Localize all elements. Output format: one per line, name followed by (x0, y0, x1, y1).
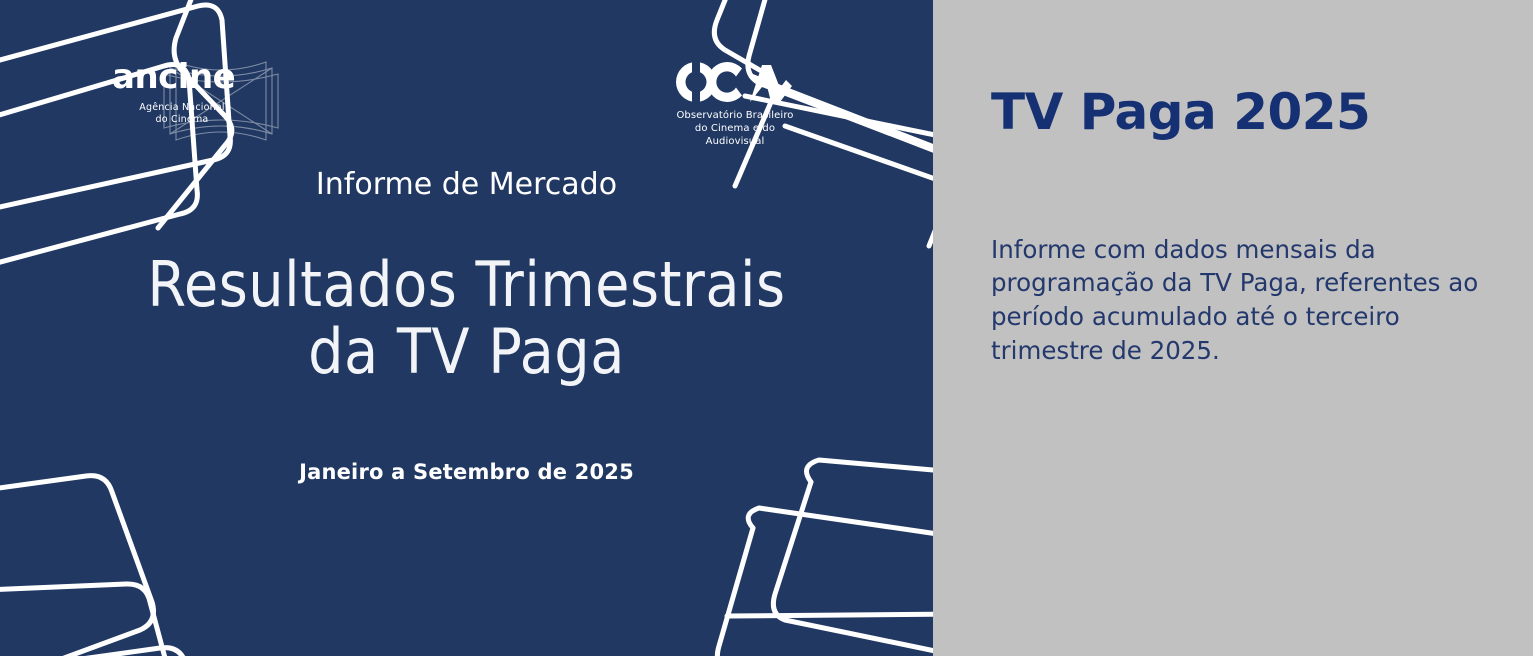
ancine-tagline-line1: Agência Nacional (116, 102, 248, 114)
kicker-label: Informe de Mercado (316, 170, 617, 200)
ancine-tagline-line2: do Cinema (116, 114, 248, 126)
right-panel-title: TV Paga 2025 (991, 86, 1493, 139)
page-title: Resultados Trimestrais da TV Paga (147, 252, 785, 386)
right-panel-description: Informe com dados mensais da programação… (991, 233, 1491, 368)
cover-page: ancine Agência Nacional do Cinema (0, 0, 1533, 656)
cover-text-block: Informe de Mercado Resultados Trimestrai… (0, 0, 933, 656)
left-navy-panel: ancine Agência Nacional do Cinema (0, 0, 933, 656)
ancine-wordmark: ancine (108, 60, 308, 94)
ancine-tagline: Agência Nacional do Cinema (116, 102, 248, 126)
period-label: Janeiro a Setembro de 2025 (299, 460, 634, 484)
page-title-line1: Resultados Trimestrais (147, 252, 785, 319)
page-title-line2: da TV Paga (147, 319, 785, 386)
right-gray-panel: TV Paga 2025 Informe com dados mensais d… (933, 0, 1533, 656)
